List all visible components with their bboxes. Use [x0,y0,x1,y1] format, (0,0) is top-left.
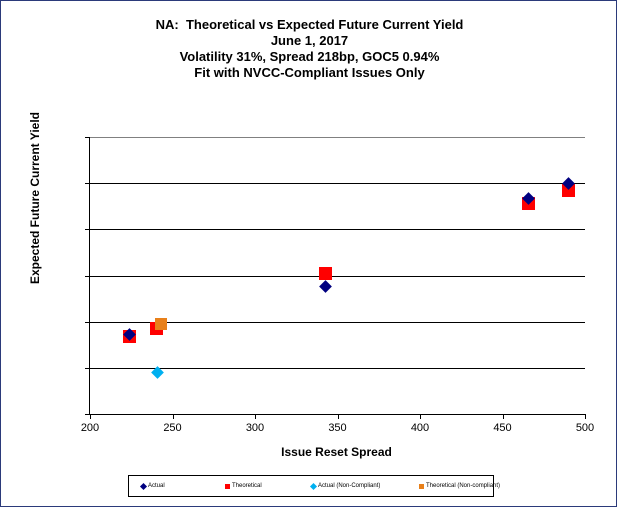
y-tick-mark [85,322,90,323]
title-line-2: June 1, 2017 [1,33,618,49]
x-tick-mark [503,414,504,419]
y-tick-mark [85,276,90,277]
x-tick-mark [173,414,174,419]
chart-frame: NA: Theoretical vs Expected Future Curre… [0,0,617,507]
y-tick-mark [85,183,90,184]
x-tick-mark [338,414,339,419]
y-tick-mark [85,137,90,138]
title-line-4: Fit with NVCC-Compliant Issues Only [1,65,618,81]
x-tick-label: 200 [67,422,113,434]
x-tick-label: 250 [150,422,196,434]
gridline-y [90,276,585,277]
legend-label: Actual (Non-Compliant) [318,483,380,489]
legend-square-icon [225,484,230,489]
legend-entry[interactable]: Theoretical [225,483,262,489]
x-tick-label: 450 [480,422,526,434]
chart-legend: ActualTheoreticalActual (Non-Compliant)T… [128,475,494,497]
legend-entry[interactable]: Actual [141,483,165,489]
x-tick-mark [585,414,586,419]
data-point-theoretical-non-compliant [155,318,167,330]
y-tick-mark [85,229,90,230]
gridline-y [90,137,585,138]
x-tick-mark [420,414,421,419]
x-tick-mark [255,414,256,419]
x-axis-title: Issue Reset Spread [89,445,584,459]
chart-title: NA: Theoretical vs Expected Future Curre… [1,17,618,81]
x-tick-label: 400 [397,422,443,434]
plot-area: 3.00%3.50%4.00%4.50%5.00%5.50%6.00% 2002… [89,137,585,415]
legend-label: Theoretical (Non-compliant) [426,483,500,489]
data-point-theoretical [319,267,332,280]
legend-label: Theoretical [232,483,262,489]
gridline-y [90,183,585,184]
x-tick-label: 300 [232,422,278,434]
legend-entry[interactable]: Actual (Non-Compliant) [311,483,380,489]
x-tick-mark [90,414,91,419]
x-tick-label: 350 [315,422,361,434]
legend-entry[interactable]: Theoretical (Non-compliant) [419,483,500,489]
gridline-y [90,368,585,369]
title-line-1: NA: Theoretical vs Expected Future Curre… [1,17,618,33]
y-tick-mark [85,368,90,369]
legend-diamond-icon [310,482,317,489]
title-line-3: Volatility 31%, Spread 218bp, GOC5 0.94% [1,49,618,65]
gridline-y [90,229,585,230]
data-point-actual [320,280,333,293]
legend-label: Actual [148,483,165,489]
legend-diamond-icon [140,482,147,489]
x-tick-label: 500 [562,422,608,434]
y-axis-title: Expected Future Current Yield [28,78,42,318]
legend-square-icon [419,484,424,489]
